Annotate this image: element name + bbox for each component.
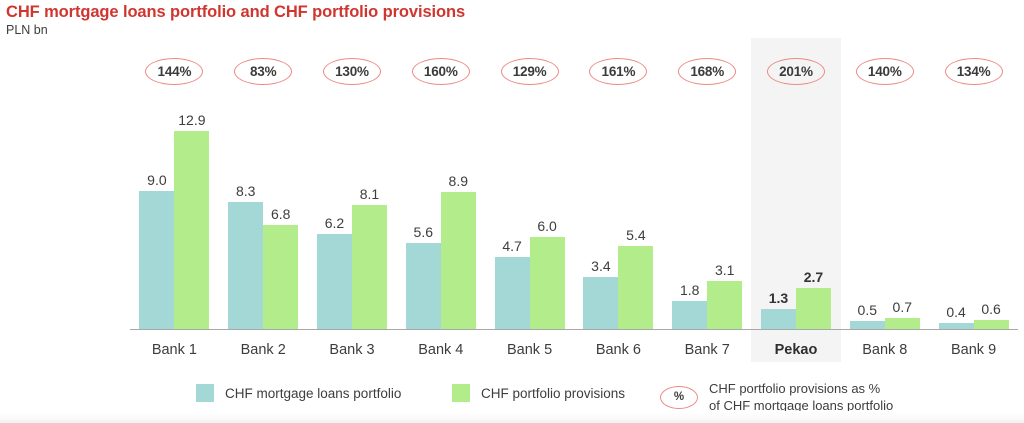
bar-column: 4.7 (495, 257, 530, 329)
bar-provisions[interactable] (707, 281, 742, 329)
bar-column: 5.4 (618, 246, 653, 329)
chart-group-bank-3: 130%6.28.1Bank 3 (308, 40, 397, 370)
bar-column: 3.4 (583, 277, 618, 329)
legend-ratio-label: CHF portfolio provisions as % of CHF mor… (709, 380, 893, 414)
bar-value-label: 8.3 (236, 183, 255, 199)
bar-pair: 0.40.6 (939, 320, 1009, 329)
bar-column: 6.0 (530, 237, 565, 329)
bar-value-label: 0.6 (981, 301, 1000, 317)
bar-column: 2.7 (796, 288, 831, 329)
bar-value-label: 0.4 (946, 304, 965, 320)
x-axis-label: Bank 5 (507, 342, 552, 358)
bar-value-label: 4.7 (502, 238, 521, 254)
ratio-badge: 168% (678, 58, 736, 85)
ratio-badge: 130% (323, 58, 381, 85)
bar-value-label: 5.4 (626, 227, 645, 243)
chart-plot-area: 144%9.012.9Bank 183%8.36.8Bank 2130%6.28… (0, 0, 1024, 423)
bar-pair: 1.32.7 (761, 288, 831, 329)
x-axis-label: Bank 4 (418, 342, 463, 358)
bar-column: 8.3 (228, 202, 263, 329)
ratio-badge: 83% (234, 58, 292, 85)
x-axis-label: Pekao (775, 342, 818, 358)
bar-column: 5.6 (406, 243, 441, 329)
bar-pair: 5.68.9 (406, 192, 476, 329)
bar-pair: 4.76.0 (495, 237, 565, 329)
bar-mortgage-loans[interactable] (495, 257, 530, 329)
bar-provisions[interactable] (618, 246, 653, 329)
ratio-badge: 144% (145, 58, 203, 85)
ratio-badge: 129% (501, 58, 559, 85)
x-axis-label: Bank 8 (862, 342, 907, 358)
bar-value-label: 0.7 (893, 299, 912, 315)
bar-value-label: 1.8 (680, 282, 699, 298)
x-axis-label: Bank 6 (596, 342, 641, 358)
legend-label: CHF portfolio provisions (481, 386, 625, 401)
x-axis-label: Bank 7 (685, 342, 730, 358)
bar-mortgage-loans[interactable] (761, 309, 796, 329)
bar-column: 8.1 (352, 205, 387, 329)
bar-column: 6.8 (263, 225, 298, 329)
bar-column: 1.8 (672, 301, 707, 329)
bar-pair: 6.28.1 (317, 205, 387, 329)
bar-mortgage-loans[interactable] (583, 277, 618, 329)
bar-provisions[interactable] (885, 318, 920, 329)
bar-provisions[interactable] (441, 192, 476, 329)
bar-value-label: 3.4 (591, 258, 610, 274)
bar-column: 8.9 (441, 192, 476, 329)
bar-mortgage-loans[interactable] (228, 202, 263, 329)
chart-page: CHF mortgage loans portfolio and CHF por… (0, 0, 1024, 423)
legend-item-chf-mortgage-loans-portfolio[interactable]: CHF mortgage loans portfolio (196, 384, 401, 402)
chart-group-bank-4: 160%5.68.9Bank 4 (396, 40, 485, 370)
bar-provisions[interactable] (530, 237, 565, 329)
chart-group-bank-7: 168%1.83.1Bank 7 (663, 40, 752, 370)
bar-provisions[interactable] (974, 320, 1009, 329)
bar-column: 6.2 (317, 234, 352, 329)
bar-value-label: 3.1 (715, 262, 734, 278)
x-axis-label: Bank 9 (951, 342, 996, 358)
bar-value-label: 2.7 (804, 269, 823, 285)
bar-value-label: 1.3 (769, 290, 788, 306)
bar-value-label: 9.0 (147, 172, 166, 188)
bar-mortgage-loans[interactable] (139, 191, 174, 329)
chart-group-bank-2: 83%8.36.8Bank 2 (219, 40, 308, 370)
legend-item-provisions-ratio[interactable]: % CHF portfolio provisions as % of CHF m… (660, 380, 893, 414)
bar-column: 9.0 (139, 191, 174, 329)
chart-group-bank-8: 140%0.50.7Bank 8 (840, 40, 929, 370)
chart-group-bank-1: 144%9.012.9Bank 1 (130, 40, 219, 370)
percent-ellipse-icon: % (660, 386, 698, 409)
bar-column: 0.5 (850, 321, 885, 329)
x-axis-label: Bank 3 (329, 342, 374, 358)
bar-column: 3.1 (707, 281, 742, 329)
chart-group-pekao: 201%1.32.7Pekao (752, 40, 841, 370)
ratio-badge: 201% (767, 58, 825, 85)
bar-pair: 9.012.9 (139, 131, 209, 329)
bar-column: 12.9 (174, 131, 209, 329)
x-axis-label: Bank 2 (241, 342, 286, 358)
bar-mortgage-loans[interactable] (317, 234, 352, 329)
ratio-badge: 160% (412, 58, 470, 85)
bar-mortgage-loans[interactable] (850, 321, 885, 329)
bar-value-label: 8.9 (449, 173, 468, 189)
bar-column: 0.7 (885, 318, 920, 329)
bar-value-label: 0.5 (858, 302, 877, 318)
ratio-badge: 161% (589, 58, 647, 85)
bar-value-label: 6.8 (271, 206, 290, 222)
bar-value-label: 5.6 (414, 224, 433, 240)
legend-swatch-icon (196, 384, 214, 402)
legend-label: CHF mortgage loans portfolio (225, 386, 401, 401)
legend-swatch-icon (452, 384, 470, 402)
bar-value-label: 6.0 (537, 218, 556, 234)
chart-group-bank-5: 129%4.76.0Bank 5 (485, 40, 574, 370)
bar-value-label: 6.2 (325, 215, 344, 231)
bar-pair: 8.36.8 (228, 202, 298, 329)
ratio-badge: 134% (945, 58, 1003, 85)
chart-group-bank-6: 161%3.45.4Bank 6 (574, 40, 663, 370)
x-axis-line (130, 329, 1018, 330)
bar-column: 0.6 (974, 320, 1009, 329)
chart-group-bank-9: 134%0.40.6Bank 9 (929, 40, 1018, 370)
bar-value-label: 8.1 (360, 186, 379, 202)
bar-column: 1.3 (761, 309, 796, 329)
x-axis-label: Bank 1 (152, 342, 197, 358)
bar-mortgage-loans[interactable] (672, 301, 707, 329)
ratio-badge: 140% (856, 58, 914, 85)
bar-pair: 3.45.4 (583, 246, 653, 329)
bar-provisions[interactable] (174, 131, 209, 329)
bar-value-label: 12.9 (178, 112, 205, 128)
bar-provisions[interactable] (263, 225, 298, 329)
legend-item-chf-portfolio-provisions[interactable]: CHF portfolio provisions (452, 384, 625, 402)
bar-pair: 1.83.1 (672, 281, 742, 329)
bar-provisions[interactable] (796, 288, 831, 329)
bar-provisions[interactable] (352, 205, 387, 329)
bar-pair: 0.50.7 (850, 318, 920, 329)
page-bottom-edge (0, 411, 1024, 423)
bar-mortgage-loans[interactable] (406, 243, 441, 329)
legend-ratio-line1: CHF portfolio provisions as % (709, 381, 880, 396)
